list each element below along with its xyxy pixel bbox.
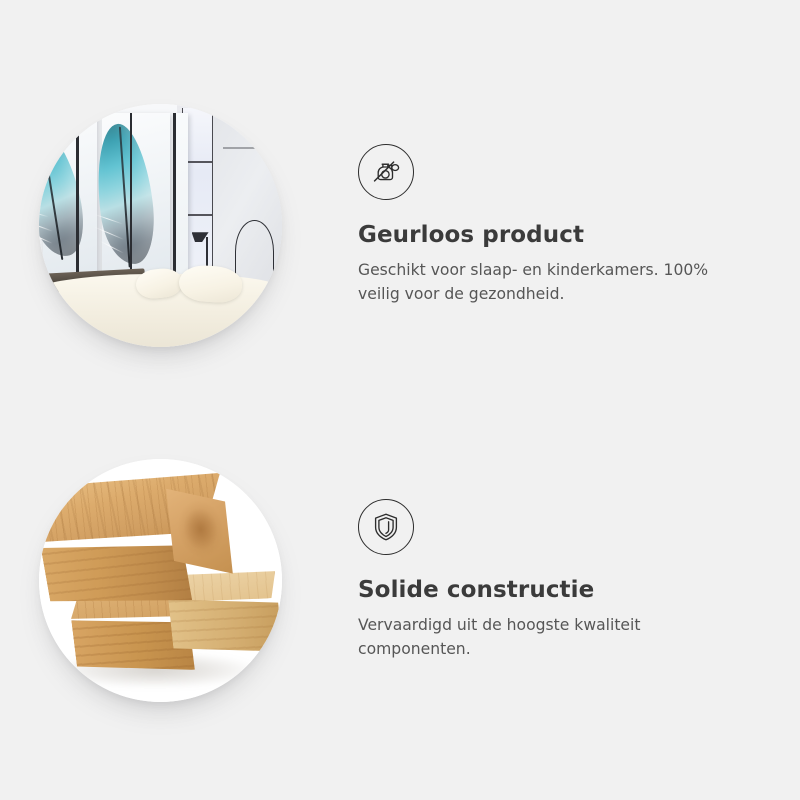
feature-text-block: Geurloos product Geschikt voor slaap- en…	[320, 144, 760, 307]
feature-description: Geschikt voor slaap- en kinderkamers. 10…	[358, 259, 710, 306]
wood-scene	[39, 459, 282, 702]
feature-text-block: Solide constructie Vervaardigd uit de ho…	[320, 499, 760, 662]
shield-glyph	[369, 510, 403, 544]
canvas-panel-3	[175, 113, 188, 278]
feature-block-solide-constructie: Solide constructie Vervaardigd uit de ho…	[0, 400, 800, 760]
shield-icon	[358, 499, 414, 555]
canvas-edge-3	[173, 113, 176, 278]
bedroom-scene	[39, 104, 282, 347]
feature-media-wrap	[0, 65, 320, 385]
canvas-edge-2	[130, 113, 133, 278]
product-feature-banner: Geurloos product Geschikt voor slaap- en…	[0, 0, 800, 800]
wooden-beams-photo	[39, 459, 282, 702]
arc-lamp	[235, 220, 274, 283]
feature-title: Geurloos product	[358, 222, 710, 249]
no-fragrance-glyph	[369, 155, 403, 189]
shelf	[223, 147, 264, 148]
no-fragrance-icon	[358, 144, 414, 200]
canvas-edge-1	[76, 113, 79, 278]
feature-description: Vervaardigd uit de hoogste kwaliteit com…	[358, 614, 710, 661]
bedroom-feather-canvas-photo	[39, 104, 282, 347]
feature-block-geurloos-product: Geurloos product Geschikt voor slaap- en…	[0, 45, 800, 405]
feature-title: Solide constructie	[358, 577, 710, 604]
feature-media-wrap	[0, 420, 320, 740]
